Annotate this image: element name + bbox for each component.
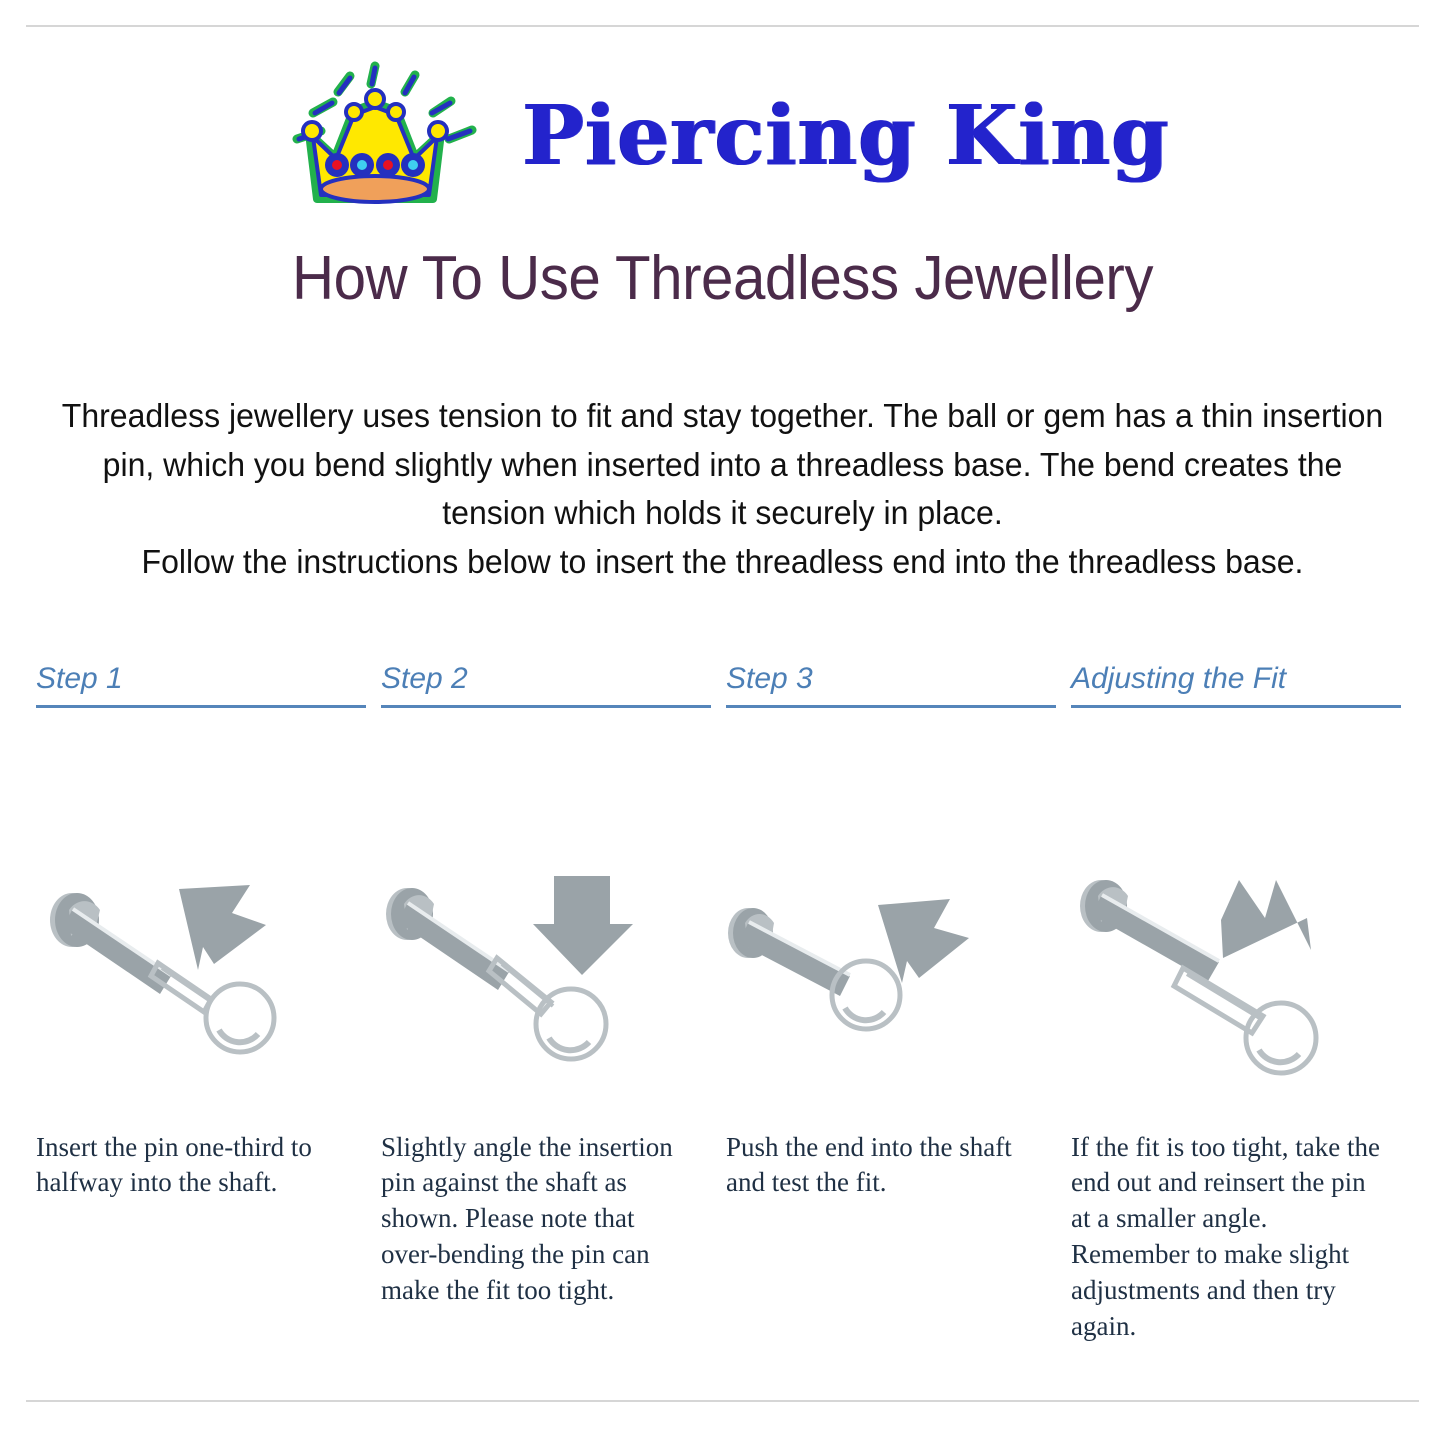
step-column-1: Step 1 Inser — [36, 662, 381, 1345]
threadless-pin-seated-arrow-up-left-icon — [726, 858, 1026, 1078]
intro-paragraph-1: Threadless jewellery uses tension to fit… — [57, 392, 1389, 538]
step-figure-4 — [1071, 708, 1401, 1128]
step-column-3: Step 3 Push the end into the shaft and — [726, 662, 1071, 1345]
step-heading-3: Step 3 — [726, 662, 1056, 708]
step-caption-2: Slightly angle the insertion pin against… — [381, 1130, 693, 1310]
step-heading-2: Step 2 — [381, 662, 711, 708]
top-divider — [26, 25, 1419, 27]
crown-icon — [275, 61, 480, 211]
step-heading-1: Step 1 — [36, 662, 366, 708]
threadless-pin-arrow-down-icon — [381, 858, 681, 1078]
document-page: Piercing King How To Use Threadless Jewe… — [0, 0, 1445, 1441]
step-figure-1 — [36, 708, 366, 1128]
step-caption-3: Push the end into the shaft and test the… — [726, 1130, 1038, 1202]
brand-name: Piercing King — [522, 95, 1169, 177]
bottom-divider — [26, 1400, 1419, 1402]
step-caption-1: Insert the pin one-third to halfway into… — [36, 1130, 348, 1202]
step-column-4: Adjusting the Fit — [1071, 662, 1416, 1345]
step-figure-2 — [381, 708, 711, 1128]
page-title: How To Use Threadless Jewellery — [43, 243, 1401, 314]
step-figure-3 — [726, 708, 1056, 1128]
steps-row: Step 1 Inser — [36, 662, 1416, 1345]
intro-paragraph-2: Follow the instructions below to insert … — [57, 538, 1389, 587]
brand-header: Piercing King — [0, 58, 1445, 213]
step-caption-4: If the fit is too tight, take the end ou… — [1071, 1130, 1383, 1345]
step-heading-4: Adjusting the Fit — [1071, 662, 1401, 708]
step-column-2: Step 2 Sligh — [381, 662, 726, 1345]
threadless-pin-arrow-down-right-icon — [1071, 858, 1381, 1088]
threadless-pin-arrow-up-left-icon — [36, 858, 336, 1078]
